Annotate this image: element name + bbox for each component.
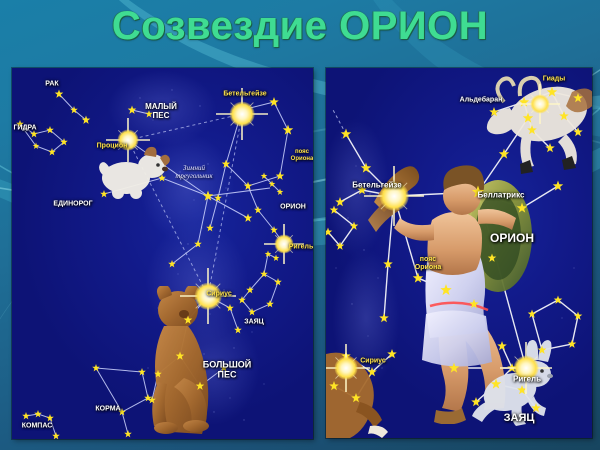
star-icon [330, 206, 339, 215]
star-icon [489, 107, 499, 117]
star-icon [553, 181, 564, 192]
star-icon [194, 240, 202, 248]
star-icon [238, 106, 247, 115]
star-icon [491, 379, 502, 390]
star-icon [379, 313, 389, 323]
star-icon [559, 111, 569, 121]
star-icon [341, 129, 352, 140]
star-icon [248, 308, 256, 316]
star-icon [154, 370, 162, 378]
star-icon [326, 228, 333, 237]
star-icon [144, 394, 152, 402]
star-icon [48, 148, 56, 156]
star-icon [357, 185, 367, 195]
star-icon [60, 138, 68, 146]
star-icon [220, 364, 228, 372]
star-icon [276, 172, 285, 181]
star-icon [527, 125, 537, 135]
star-icon [254, 206, 262, 214]
star-icon [168, 260, 176, 268]
star-icon [158, 174, 166, 182]
star-icon [261, 173, 268, 180]
star-icon [499, 149, 510, 160]
star-icon [260, 270, 268, 278]
star-icon [16, 120, 24, 128]
star-icon [82, 116, 91, 125]
star-icon [145, 110, 153, 118]
star-icon [547, 87, 558, 98]
star-icon [244, 214, 253, 223]
star-icon [554, 296, 563, 305]
star-icon [336, 242, 345, 251]
star-icon [214, 194, 222, 202]
constellation-lines-right [326, 68, 592, 438]
star-icon [269, 181, 276, 188]
star-icon [246, 286, 254, 294]
star-icon [226, 304, 234, 312]
star-icon [33, 143, 40, 150]
star-icon [507, 363, 517, 373]
star-icon [269, 97, 279, 107]
star-icon [92, 364, 100, 372]
star-icon [70, 106, 78, 114]
star-icon [46, 126, 54, 134]
star-icon [517, 385, 527, 395]
star-icon [52, 432, 60, 439]
star-icon [440, 284, 452, 296]
star-icon [413, 273, 424, 284]
star-icon [568, 340, 577, 349]
left-star-map-panel: РАКГИДРАМАЛЫЙ ПЕСПроционЕДИНОРОГБетельге… [12, 68, 313, 439]
star-icon [277, 189, 284, 196]
star-icon [118, 408, 126, 416]
star-icon [46, 414, 54, 422]
star-icon [55, 90, 64, 99]
star-icon [196, 382, 205, 391]
star-icon [238, 296, 246, 304]
star-icon [128, 106, 137, 115]
star-icon [573, 127, 583, 137]
right-orion-art-panel: ГиадыАльдебаранБетельгейзеБеллатриксОРИО… [326, 68, 592, 438]
page-title: Созвездие ОРИОН [0, 4, 600, 49]
star-icon [206, 224, 214, 232]
star-icon [234, 326, 242, 334]
star-icon [176, 352, 185, 361]
star-icon [266, 300, 274, 308]
star-icon [367, 367, 377, 377]
star-icon [280, 240, 288, 248]
star-icon [469, 299, 479, 309]
star-icon [100, 190, 108, 198]
star-icon [203, 191, 214, 202]
star-icon [519, 97, 530, 108]
star-icon [449, 363, 460, 374]
star-icon [488, 254, 497, 263]
star-icon [274, 278, 282, 286]
star-icon [34, 410, 42, 418]
star-icon [538, 346, 547, 355]
star-icon [273, 255, 280, 262]
star-icon [573, 93, 583, 103]
star-icon [471, 397, 481, 407]
star-icon [270, 226, 278, 234]
star-icon [523, 113, 534, 124]
star-icon [138, 368, 146, 376]
star-icon [341, 351, 351, 361]
star-icon [30, 130, 38, 138]
star-icon [283, 125, 294, 136]
star-icon [124, 430, 132, 438]
star-icon [22, 412, 30, 420]
star-icon [545, 143, 555, 153]
star-icon [222, 160, 231, 169]
star-icon [531, 403, 541, 413]
star-icon [517, 203, 528, 214]
star-icon [361, 163, 372, 174]
star-icon [574, 312, 583, 321]
star-icon [497, 341, 507, 351]
slide-canvas: Созвездие ОРИОН [0, 0, 600, 450]
star-icon [329, 381, 339, 391]
star-icon [387, 349, 397, 359]
star-icon [472, 186, 485, 199]
star-icon [184, 316, 193, 325]
star-icon [383, 259, 393, 269]
star-icon [528, 310, 537, 319]
star-icon [244, 182, 253, 191]
star-icon [265, 251, 272, 258]
star-icon [350, 222, 359, 231]
star-icon [351, 393, 361, 403]
